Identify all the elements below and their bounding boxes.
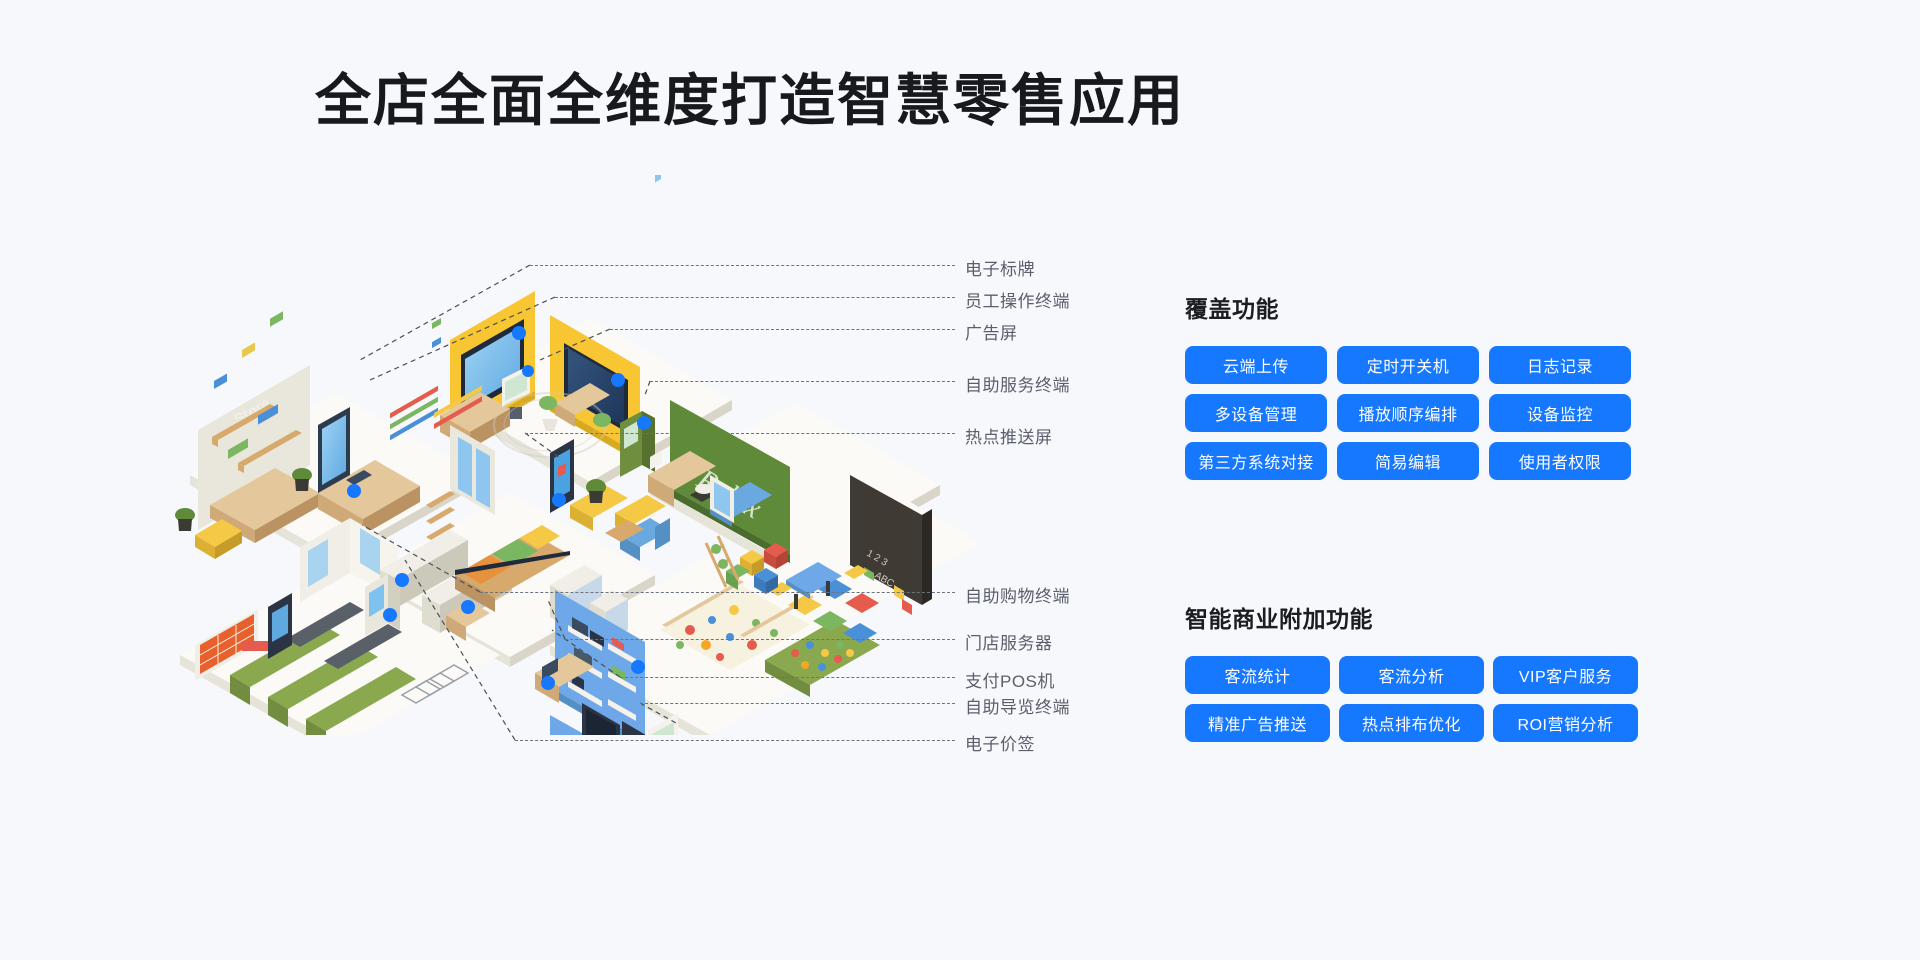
marker-electronic-signage (512, 326, 526, 340)
chip-multi-device-manage[interactable]: 多设备管理 (1185, 394, 1327, 432)
chip-roi-marketing[interactable]: ROI营销分析 (1493, 704, 1638, 742)
chip-grid-smart-business-addons: 客流统计 客流分析 VIP客户服务 精准广告推送 热点排布优化 ROI营销分析 (1185, 656, 1645, 742)
chip-vip-customer-service[interactable]: VIP客户服务 (1493, 656, 1638, 694)
chip-precise-ad-push[interactable]: 精准广告推送 (1185, 704, 1330, 742)
chip-grid-covered-features: 云端上传 定时开关机 日志记录 多设备管理 播放顺序编排 设备监控 第三方系统对… (1185, 346, 1645, 480)
callout-label-self-shopping-terminal: 自助购物终端 (965, 582, 1070, 607)
marker-payment-pos (461, 600, 475, 614)
marker-store-server (631, 660, 645, 674)
marker-hotspot-push-screen (552, 493, 566, 507)
panel-smart-business-addons: 智能商业附加功能 客流统计 客流分析 VIP客户服务 精准广告推送 热点排布优化… (1185, 600, 1645, 742)
panel-heading-smart-business-addons: 智能商业附加功能 (1185, 600, 1645, 634)
callout-label-self-guide-terminal: 自助导览终端 (965, 693, 1070, 718)
page-title: 全店全面全维度打造智慧零售应用 (0, 56, 1500, 137)
marker-self-shopping-terminal (383, 608, 397, 622)
isometric-store-illustration: Store (150, 175, 980, 735)
marker-advertising-screen (611, 373, 625, 387)
marker-apparel-desk (347, 484, 361, 498)
marker-staff-terminal (522, 365, 534, 377)
leader-line-electronic-price-tag (515, 740, 955, 741)
chip-simple-edit[interactable]: 简易编辑 (1337, 442, 1479, 480)
marker-server-desk (541, 676, 555, 690)
chip-playback-sequence[interactable]: 播放顺序编排 (1337, 394, 1479, 432)
chip-traffic-statistics[interactable]: 客流统计 (1185, 656, 1330, 694)
chip-cloud-upload[interactable]: 云端上传 (1185, 346, 1327, 384)
callout-label-self-service-terminal: 自助服务终端 (965, 371, 1070, 396)
panel-heading-covered-features: 覆盖功能 (1185, 290, 1645, 324)
chip-device-monitor[interactable]: 设备监控 (1489, 394, 1631, 432)
chip-hotspot-layout-opt[interactable]: 热点排布优化 (1339, 704, 1484, 742)
marker-self-service-terminal (637, 416, 651, 430)
chip-scheduled-power[interactable]: 定时开关机 (1337, 346, 1479, 384)
page-root: 全店全面全维度打造智慧零售应用 (0, 0, 1920, 960)
chip-traffic-analysis[interactable]: 客流分析 (1339, 656, 1484, 694)
panel-covered-features: 覆盖功能 云端上传 定时开关机 日志记录 多设备管理 播放顺序编排 设备监控 第… (1185, 290, 1645, 480)
marker-electronic-price-tag (395, 573, 409, 587)
chip-user-permission[interactable]: 使用者权限 (1489, 442, 1631, 480)
chip-third-party-docking[interactable]: 第三方系统对接 (1185, 442, 1327, 480)
callout-label-staff-terminal: 员工操作终端 (965, 287, 1070, 312)
chip-log-record[interactable]: 日志记录 (1489, 346, 1631, 384)
